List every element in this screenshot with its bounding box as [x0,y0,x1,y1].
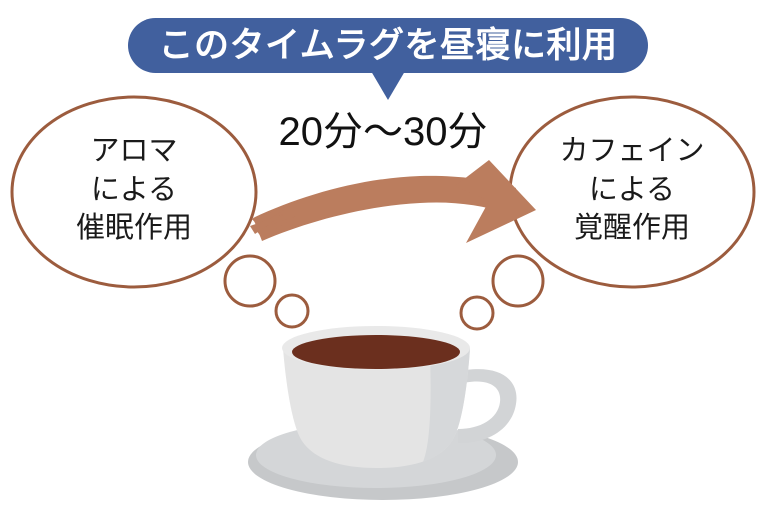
caffeine-bubble-text: カフェイン による 覚醒作用 [508,132,756,248]
headline-banner: このタイムラグを昼寝に利用 [128,18,648,73]
curved-brush-arrow [250,160,536,243]
headline-banner-label: このタイムラグを昼寝に利用 [158,28,617,63]
left-trail-large-circle [225,256,275,306]
illustration-layer [0,0,766,529]
coffee-cup-illustration [248,326,518,500]
aroma-bubble-line-2: による [10,171,258,210]
aroma-bubble-line-1: アロマ [10,132,258,171]
aroma-bubble-line-3: 催眠作用 [10,209,258,248]
caffeine-bubble-line-2: による [508,171,756,210]
duration-label: 20分〜30分 [258,112,508,152]
right-trail-large-circle [493,256,543,306]
caffeine-bubble-line-1: カフェイン [508,132,756,171]
caffeine-bubble-line-3: 覚醒作用 [508,209,756,248]
right-trail-small-circle [461,297,493,329]
aroma-bubble-text: アロマ による 催眠作用 [10,132,258,248]
infographic-canvas: このタイムラグを昼寝に利用 アロマ による 催眠作用 カフェイン による 覚醒作… [0,0,766,529]
left-trail-small-circle [276,295,308,327]
coffee-surface [292,335,460,369]
